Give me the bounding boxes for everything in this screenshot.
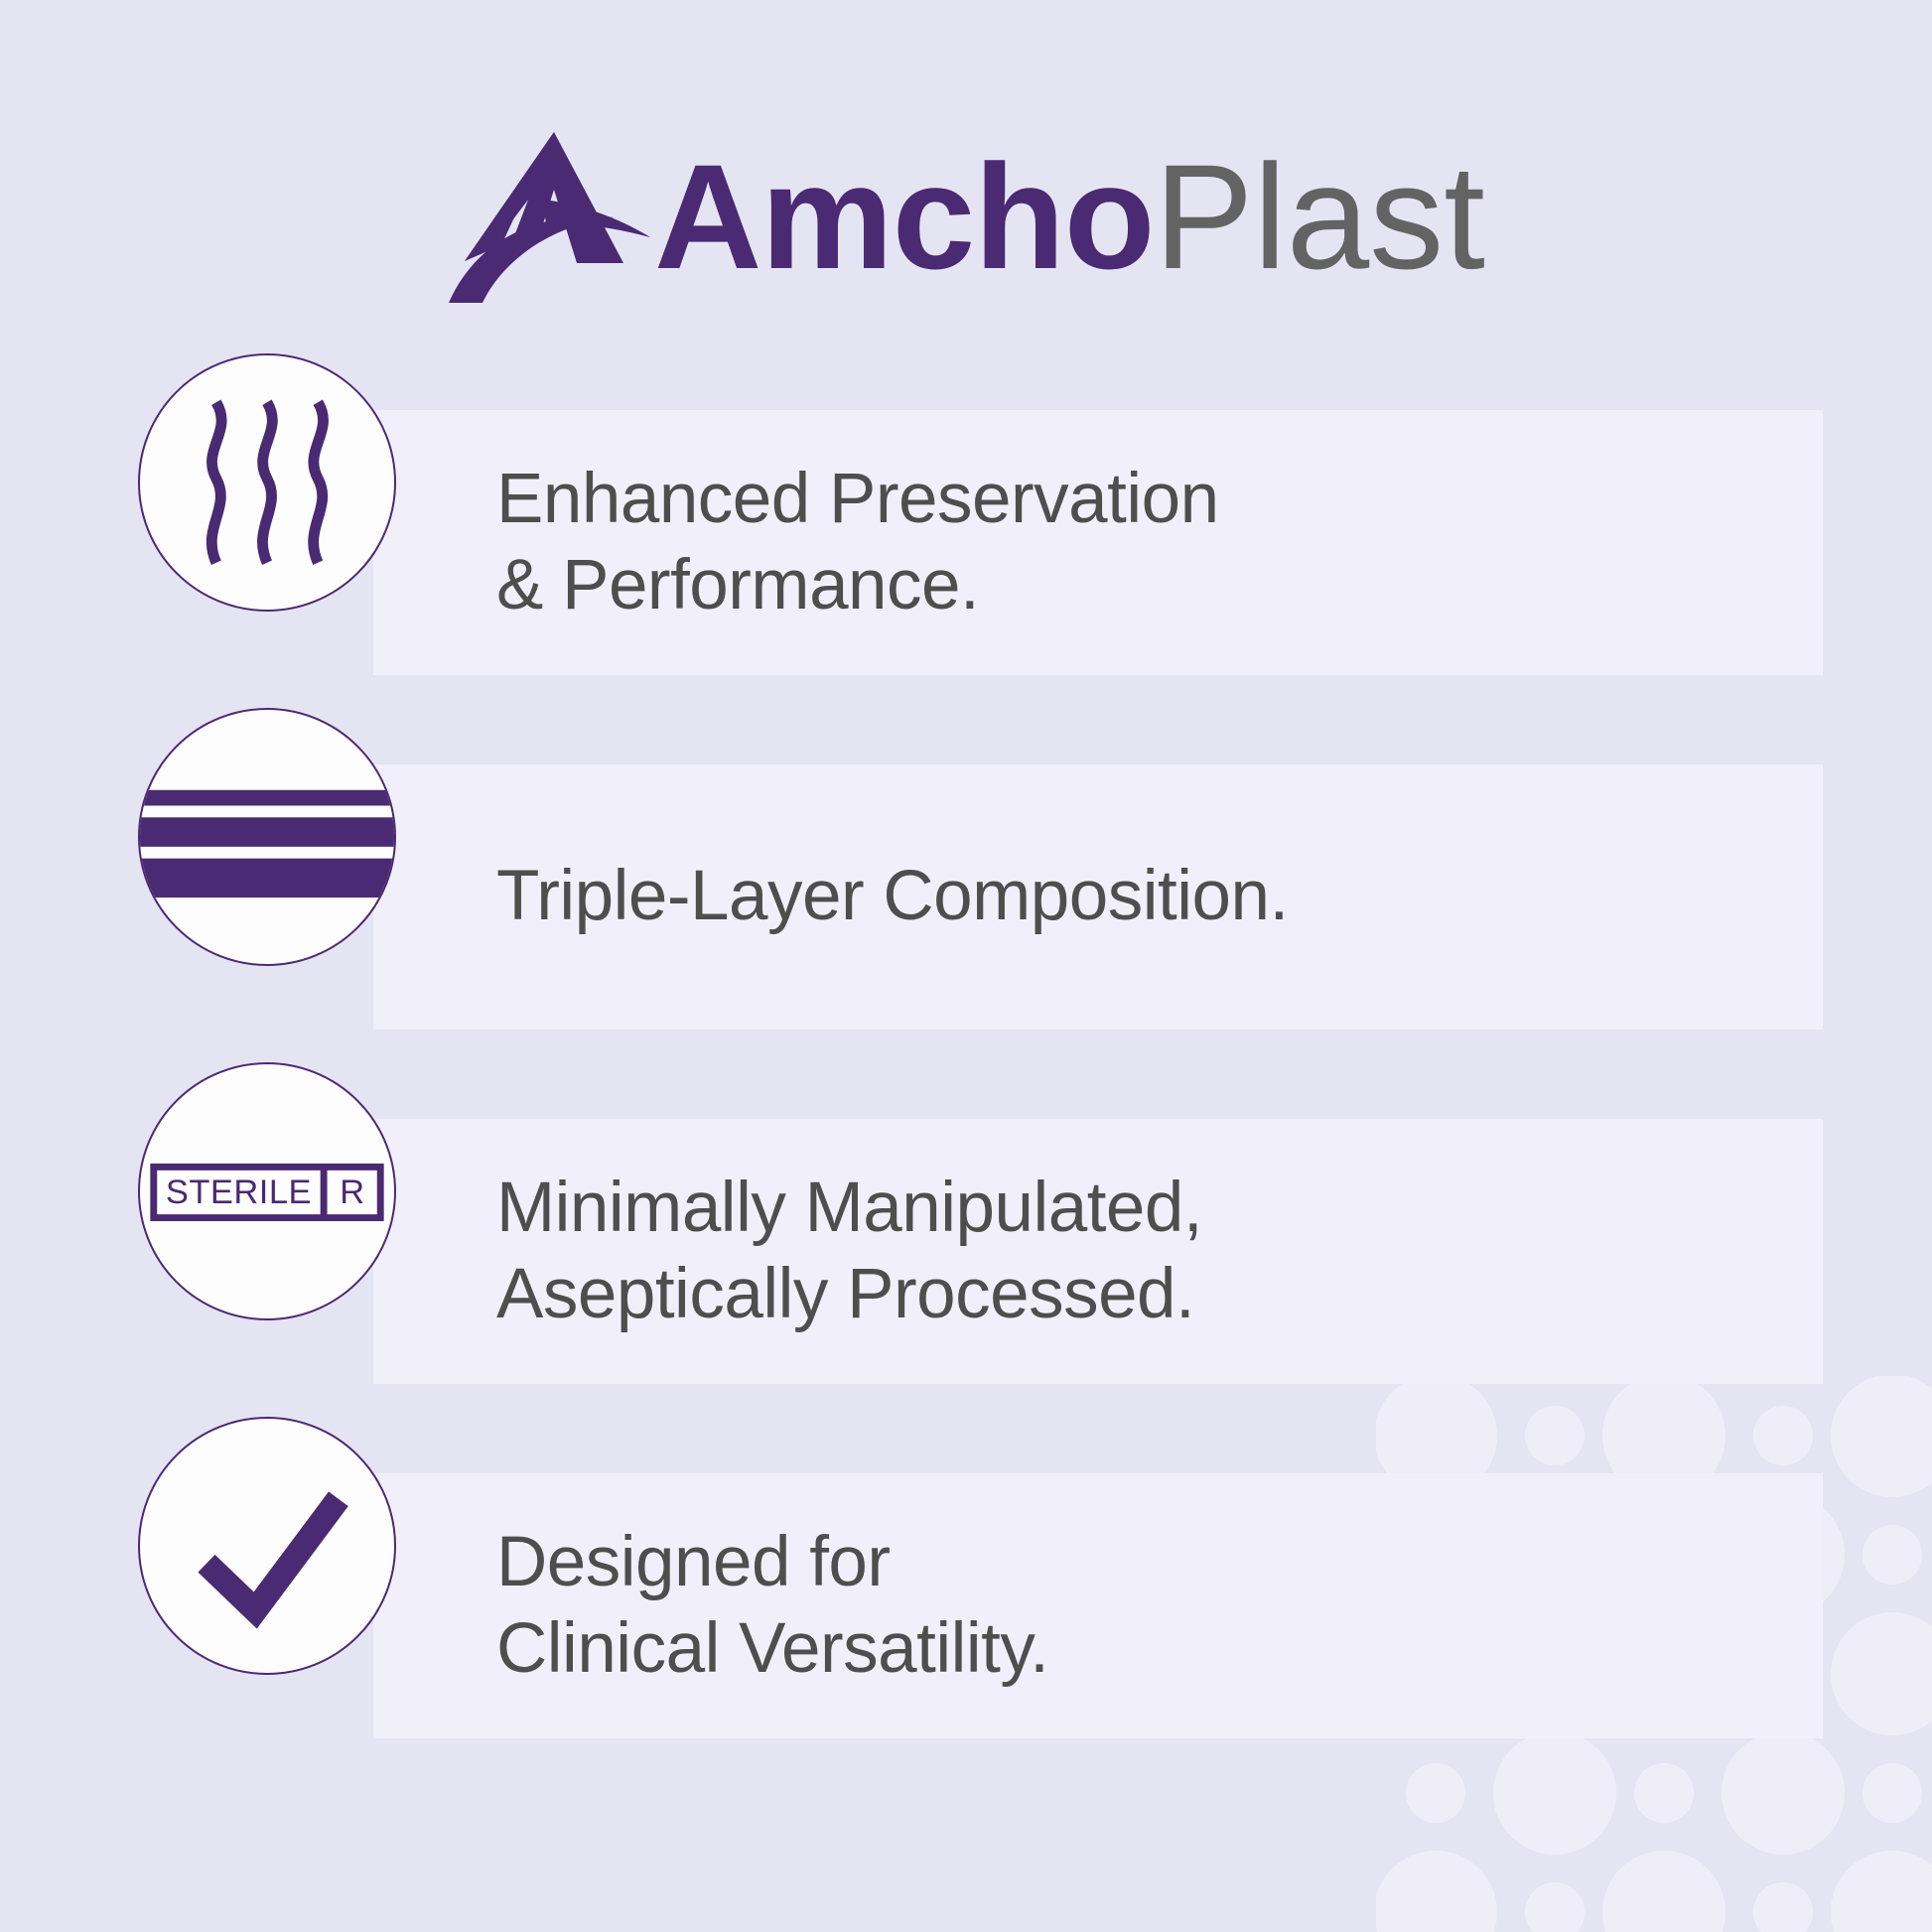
brand-logo: AmchoPlast: [0, 117, 1932, 316]
checkmark-icon: [138, 1417, 396, 1675]
wavy-lines-icon: [138, 353, 396, 612]
amchoplast-feature-infographic: { "brand": { "logo_mark_name": "amcho-ar…: [0, 0, 1932, 1932]
triple-layer-bars-icon: [138, 708, 396, 966]
brand-wordmark: AmchoPlast: [654, 142, 1485, 291]
feature-label: Triple-Layer Composition.: [496, 764, 1289, 1030]
svg-text:R: R: [340, 1173, 364, 1211]
feature-row: STERILE R Minimally Manipulated, Aseptic…: [0, 1119, 1932, 1384]
feature-row: Enhanced Preservation & Performance.: [0, 410, 1932, 675]
svg-text:STERILE: STERILE: [166, 1173, 312, 1211]
amcho-arrow-mark-icon: [447, 128, 660, 305]
sterile-r-label-icon: STERILE R: [138, 1062, 396, 1320]
feature-list: Enhanced Preservation & Performance. Tri…: [0, 410, 1932, 1828]
brand-name-primary: Amcho: [654, 142, 1154, 291]
feature-row: Designed for Clinical Versatility.: [0, 1473, 1932, 1738]
feature-label: Minimally Manipulated, Aseptically Proce…: [496, 1119, 1202, 1384]
feature-label: Designed for Clinical Versatility.: [496, 1473, 1048, 1738]
brand-name-secondary: Plast: [1154, 142, 1484, 291]
feature-label: Enhanced Preservation & Performance.: [496, 410, 1219, 675]
feature-row: Triple-Layer Composition.: [0, 764, 1932, 1030]
